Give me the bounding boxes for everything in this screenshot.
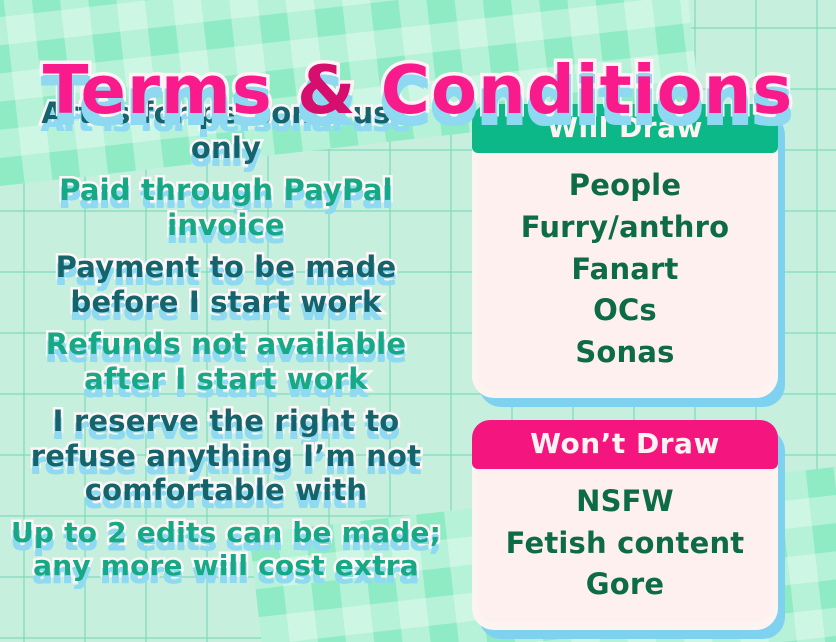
will-draw-item: Furry/anthro bbox=[488, 207, 762, 249]
term-item-2: Paid through PayPal invoice bbox=[0, 173, 452, 242]
wont-draw-item: Fetish content bbox=[488, 523, 762, 565]
terms-and-conditions-poster: Terms & Conditions Art is for personal u… bbox=[0, 0, 836, 642]
title-part-two: Conditions bbox=[356, 51, 793, 129]
page-title: Terms & Conditions bbox=[43, 55, 794, 125]
poster-title-wrap: Terms & Conditions bbox=[0, 10, 836, 170]
term-item-5: I reserve the right to refuse anything I… bbox=[0, 404, 452, 508]
wont-draw-item: NSFW bbox=[488, 481, 762, 523]
will-draw-item: Fanart bbox=[488, 249, 762, 291]
draw-policy-cards: Will Draw People Furry/anthro Fanart OCs… bbox=[472, 104, 778, 642]
wont-draw-card-body: NSFW Fetish content Gore bbox=[478, 469, 772, 622]
term-item-4: Refunds not available after I start work bbox=[0, 327, 452, 396]
term-item-6: Up to 2 edits can be made; any more will… bbox=[0, 516, 452, 583]
will-draw-card-body: People Furry/anthro Fanart OCs Sonas bbox=[478, 153, 772, 390]
wont-draw-card: Won’t Draw NSFW Fetish content Gore bbox=[472, 420, 778, 630]
will-draw-item: Sonas bbox=[488, 332, 762, 374]
will-draw-item: People bbox=[488, 165, 762, 207]
title-ampersand: & bbox=[297, 51, 356, 129]
term-item-3: Payment to be made before I start work bbox=[0, 250, 452, 319]
wont-draw-item: Gore bbox=[488, 564, 762, 606]
terms-list: Art is for personal use only Paid throug… bbox=[0, 96, 452, 590]
will-draw-item: OCs bbox=[488, 290, 762, 332]
wont-draw-card-header: Won’t Draw bbox=[472, 420, 778, 469]
title-part-one: Terms bbox=[43, 51, 297, 129]
